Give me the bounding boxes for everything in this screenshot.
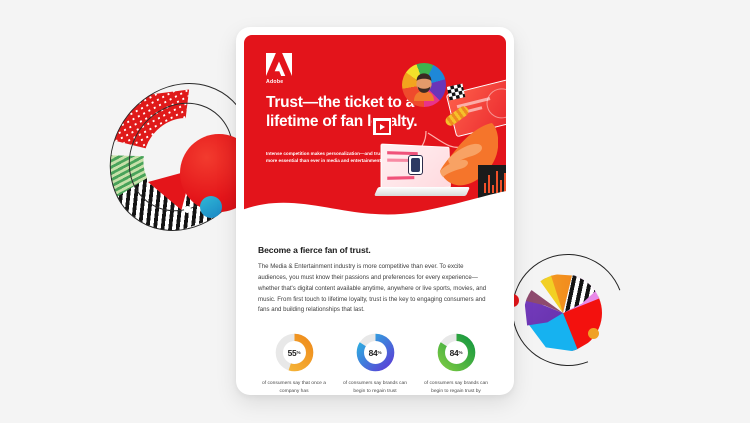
- hero-banner: Adobe Trust—the ticket to a lifetime of …: [244, 35, 506, 231]
- donut-value-1: 55%: [274, 332, 315, 373]
- body-paragraph: The Media & Entertainment industry is mo…: [258, 262, 492, 316]
- hero-wave-divider: [244, 190, 506, 231]
- donut-chart-3: 84%: [436, 332, 477, 373]
- screen-bar-3: [387, 176, 414, 180]
- orange-dot: [588, 328, 599, 339]
- video-play-inner: [376, 121, 389, 133]
- stat-caption-3: of consumers say brands can begin to reg…: [420, 380, 492, 395]
- body-section: Become a fierce fan of trust. The Media …: [244, 231, 506, 316]
- donut-value-3: 84%: [436, 332, 477, 373]
- stat-item: 84% of consumers say brands can begin to…: [339, 332, 411, 395]
- stat-item: 55% of consumers say that once a company…: [258, 332, 330, 395]
- adobe-logo: Adobe: [266, 53, 300, 85]
- teal-sphere: [200, 196, 222, 218]
- stat-caption-1: of consumers say that once a company has: [258, 380, 330, 395]
- screen-bar-2: [387, 159, 408, 162]
- video-play-icon: [372, 117, 392, 136]
- content-card: Adobe Trust—the ticket to a lifetime of …: [236, 27, 514, 395]
- play-triangle: [380, 124, 385, 130]
- avatar-face-icon: [411, 71, 437, 101]
- adobe-logo-mark: [266, 53, 292, 76]
- body-heading: Become a fierce fan of trust.: [258, 245, 492, 255]
- stats-row: 55% of consumers say that once a company…: [244, 316, 506, 395]
- right-decoration-graphic: [506, 252, 638, 380]
- color-wheel-sphere: [524, 274, 602, 352]
- donut-chart-2: 84%: [355, 332, 396, 373]
- stat-caption-2: of consumers say brands can begin to reg…: [339, 380, 411, 395]
- adobe-wordmark: Adobe: [266, 79, 300, 85]
- avatar-color-wheel: [402, 63, 446, 107]
- white-dot: [184, 206, 191, 213]
- stat-item: 84% of consumers say brands can begin to…: [420, 332, 492, 395]
- donut-chart-1: 55%: [274, 332, 315, 373]
- hero-subtitle: Intense competition makes personalizatio…: [266, 150, 396, 165]
- donut-value-2: 84%: [355, 332, 396, 373]
